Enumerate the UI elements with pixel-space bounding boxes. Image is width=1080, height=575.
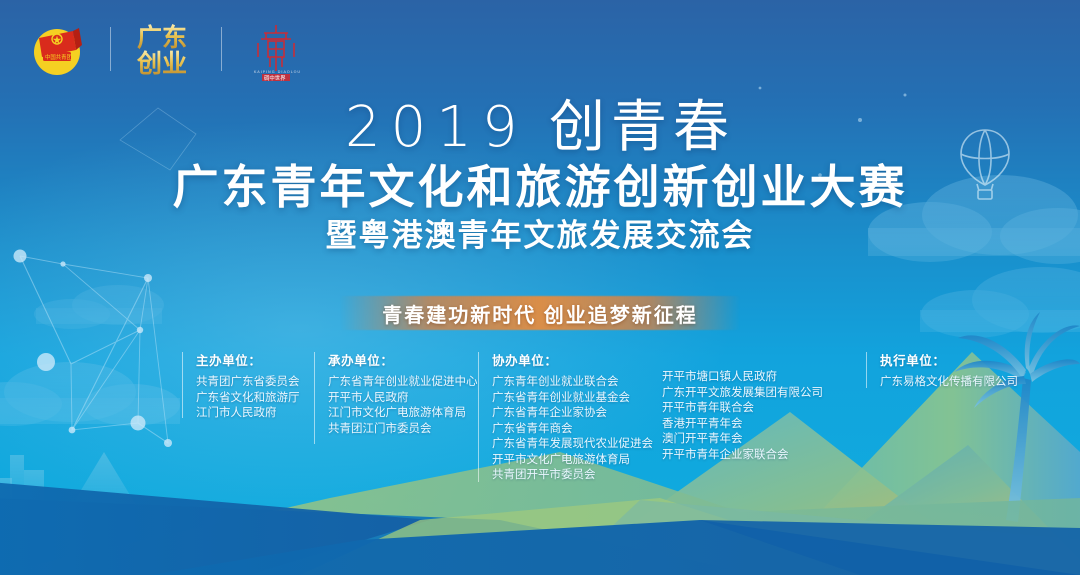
org-column-executor: 执行单位： 广东易格文化传播有限公司 bbox=[866, 350, 1030, 484]
org-column-co-organizer: 协办单位： 广东青年创业就业联合会 广东省青年创业就业基金会 广东省青年企业家协… bbox=[478, 350, 662, 484]
low-poly-terrain bbox=[0, 0, 1080, 575]
org-item: 共青团江门市委员会 bbox=[328, 422, 478, 438]
title-brand: 创青春 bbox=[549, 95, 735, 158]
org-column-undertaker: 承办单位： 广东省青年创业就业促进中心 开平市人民政府 江门市文化广电旅游体育局… bbox=[314, 350, 478, 484]
column-rule bbox=[314, 352, 315, 444]
org-item: 广东易格文化传播有限公司 bbox=[880, 375, 1030, 391]
logo-bar: 中国共青团 广东 创业 bbox=[26, 14, 308, 84]
svg-text:KAIPING DIAOLOU: KAIPING DIAOLOU bbox=[254, 70, 301, 74]
org-item: 广东青年创业就业联合会 bbox=[492, 375, 662, 391]
logo-divider-2 bbox=[221, 27, 222, 71]
title-block: 2019 创青春 广东青年文化和旅游创新创业大赛 暨粤港澳青年文旅发展交流会 bbox=[0, 96, 1080, 255]
org-item: 开平市青年联合会 bbox=[662, 401, 842, 417]
column-rule bbox=[866, 352, 867, 388]
organizer-columns: 主办单位： 共青团广东省委员会 广东省文化和旅游厅 江门市人民政府 承办单位： … bbox=[182, 350, 1062, 484]
org-item: 香港开平青年会 bbox=[662, 417, 842, 433]
org-title-undertaker: 承办单位： bbox=[328, 350, 478, 369]
org-item: 广东省青年企业家协会 bbox=[492, 406, 662, 422]
org-item: 共青团开平市委员会 bbox=[492, 468, 662, 484]
logo-kaiping-diaolou: KAIPING DIAOLOU 碉中世界 bbox=[244, 14, 308, 84]
org-column-host: 主办单位： 共青团广东省委员会 广东省文化和旅游厅 江门市人民政府 bbox=[182, 350, 314, 484]
org-item: 广东省青年创业就业促进中心 bbox=[328, 375, 478, 391]
column-rule bbox=[182, 352, 183, 418]
org-column-co-organizer-2: 开平市塘口镇人民政府 广东开平文旅发展集团有限公司 开平市青年联合会 香港开平青… bbox=[662, 350, 842, 484]
org-item: 开平市塘口镇人民政府 bbox=[662, 370, 842, 386]
org-item: 江门市文化广电旅游体育局 bbox=[328, 406, 478, 422]
svg-text:创业: 创业 bbox=[136, 49, 187, 78]
logo-divider-1 bbox=[110, 27, 111, 71]
title-line-2: 广东青年文化和旅游创新创业大赛 bbox=[0, 161, 1080, 213]
org-title-executor: 执行单位： bbox=[880, 350, 1030, 369]
org-title-host: 主办单位： bbox=[196, 350, 314, 369]
logo-communist-youth-league: 中国共青团 bbox=[26, 14, 88, 84]
slogan-text: 青春建功新时代 创业追梦新征程 bbox=[382, 299, 698, 328]
org-item: 江门市人民政府 bbox=[196, 406, 314, 422]
main-title: 2019 创青春 bbox=[0, 96, 1080, 159]
org-item: 澳门开平青年会 bbox=[662, 432, 842, 448]
org-item: 开平市文化广电旅游体育局 bbox=[492, 453, 662, 469]
org-item: 广东省青年发展现代农业促进会 bbox=[492, 437, 662, 453]
org-item: 开平市人民政府 bbox=[328, 391, 478, 407]
svg-text:广东: 广东 bbox=[137, 23, 187, 52]
svg-text:碉中世界: 碉中世界 bbox=[264, 74, 286, 81]
column-rule bbox=[478, 352, 479, 482]
org-item: 开平市青年企业家联合会 bbox=[662, 448, 842, 464]
poster-canvas: 中国共青团 广东 创业 bbox=[0, 0, 1080, 575]
title-year: 2019 bbox=[345, 95, 528, 160]
logo-guangdong-chuangye: 广东 创业 bbox=[133, 14, 199, 84]
org-item: 广东省青年创业就业基金会 bbox=[492, 391, 662, 407]
org-item: 广东省文化和旅游厅 bbox=[196, 391, 314, 407]
org-item: 广东开平文旅发展集团有限公司 bbox=[662, 386, 842, 402]
org-item: 广东省青年商会 bbox=[492, 422, 662, 438]
org-item: 共青团广东省委员会 bbox=[196, 375, 314, 391]
svg-text:中国共青团: 中国共青团 bbox=[45, 53, 72, 61]
org-title-co-organizer: 协办单位： bbox=[492, 350, 662, 369]
title-line-3: 暨粤港澳青年文旅发展交流会 bbox=[0, 217, 1080, 255]
slogan-banner: 青春建功新时代 创业追梦新征程 bbox=[0, 296, 1080, 330]
